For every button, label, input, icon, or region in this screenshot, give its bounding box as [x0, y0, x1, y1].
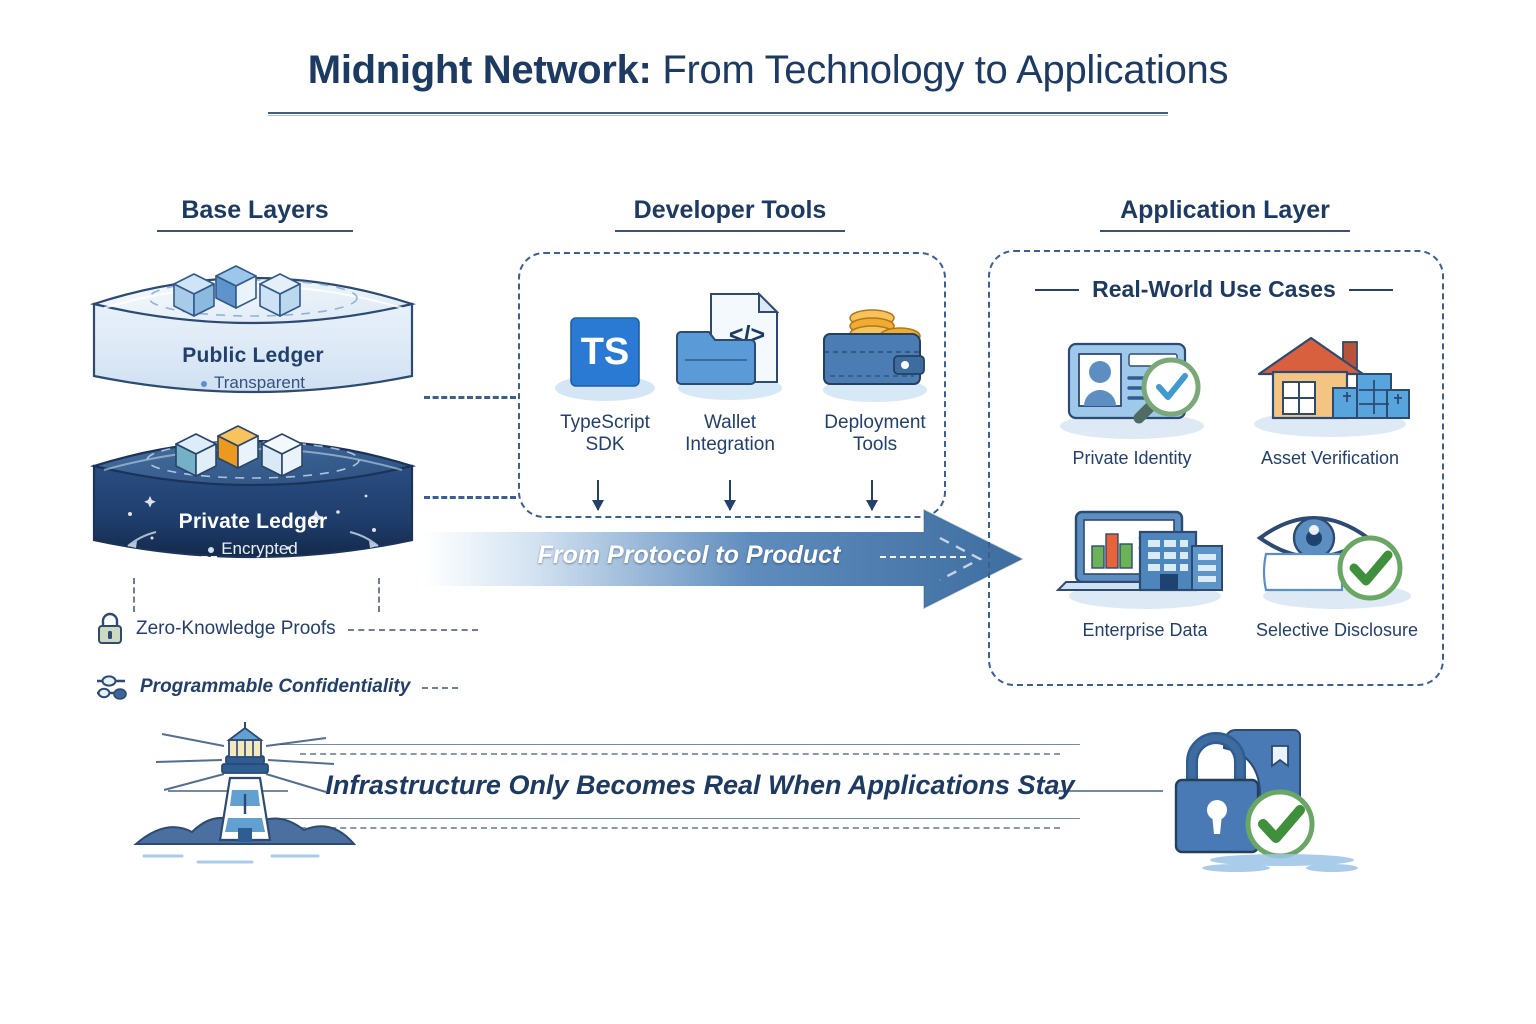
title-underline — [268, 112, 1168, 114]
id-card-magnifier-icon — [1037, 330, 1227, 442]
use-case-private-identity[interactable]: Private Identity — [1037, 330, 1227, 469]
page-title: Midnight Network: From Technology to App… — [0, 48, 1536, 93]
feature-zk-dash — [348, 629, 478, 631]
infographic-canvas: Midnight Network: From Technology to App… — [0, 0, 1536, 1024]
sliders-icon — [95, 672, 129, 702]
connector-private-to-dev — [424, 496, 516, 499]
public-ledger-shape — [88, 258, 418, 408]
column-header-application-label: Application Layer — [1060, 196, 1390, 225]
eye-check-icon — [1242, 502, 1432, 614]
use-case-private-identity-label: Private Identity — [1037, 448, 1227, 469]
feature-pc-label: Programmable Confidentiality — [140, 676, 410, 698]
column-header-base-layers: Base Layers — [95, 196, 415, 232]
arrow-label: From Protocol to Product — [424, 541, 954, 570]
arrow-dash-left — [145, 556, 217, 558]
padlock-icon — [95, 612, 125, 646]
use-cases-rule-right — [1349, 289, 1393, 291]
laptop-chart-building-icon — [1050, 502, 1240, 614]
dev-tool-wallet-integration[interactable]: </> Wallet Integration — [655, 288, 805, 456]
connector-private-down-left — [133, 578, 135, 612]
house-buildings-icon — [1235, 330, 1425, 442]
use-case-asset-verification[interactable]: Asset Verification — [1235, 330, 1425, 469]
private-ledger-shape — [88, 418, 418, 578]
feature-programmable-confidentiality: Programmable Confidentiality — [95, 672, 458, 702]
protocol-to-product-arrow: From Protocol to Product — [424, 504, 1024, 614]
connector-private-down-right — [378, 578, 380, 612]
use-cases-rule-left — [1035, 289, 1079, 291]
dev-tool-deployment-tools[interactable]: Deployment Tools — [800, 296, 950, 456]
lighthouse-icon — [126, 722, 426, 872]
wallet-coins-icon — [800, 296, 950, 404]
column-header-developer-label: Developer Tools — [565, 196, 895, 225]
padlock-check-icon — [1164, 722, 1424, 872]
arrow-dash-right — [880, 556, 966, 558]
column-header-developer-rule — [615, 230, 845, 232]
column-header-base-label: Base Layers — [95, 196, 415, 225]
code-document-folder-icon: </> — [655, 288, 805, 404]
typescript-badge-text: TS — [581, 331, 630, 373]
use-case-enterprise-data-label: Enterprise Data — [1050, 620, 1240, 641]
use-case-selective-disclosure[interactable]: Selective Disclosure — [1242, 502, 1432, 641]
use-case-asset-verification-label: Asset Verification — [1235, 448, 1425, 469]
feature-pc-dash — [422, 687, 458, 689]
security-illustration — [1164, 722, 1424, 872]
column-header-developer-tools: Developer Tools — [565, 196, 895, 232]
use-cases-header: Real-World Use Cases — [988, 276, 1440, 303]
feature-zk-label: Zero-Knowledge Proofs — [136, 618, 336, 640]
dev-tool-deployment-label: Deployment Tools — [800, 412, 950, 456]
use-case-selective-disclosure-label: Selective Disclosure — [1242, 620, 1432, 641]
title-strong: Midnight Network: — [308, 48, 652, 92]
public-ledger-disc: Public Ledger Transparent — [88, 258, 418, 408]
column-header-application-layer: Application Layer — [1060, 196, 1390, 232]
title-light: From Technology to Applications — [652, 48, 1229, 92]
private-ledger-disc: Private Ledger Encrypted — [88, 418, 418, 578]
lighthouse-illustration — [126, 722, 426, 872]
use-cases-title: Real-World Use Cases — [1092, 276, 1336, 303]
connector-public-to-dev — [424, 396, 516, 399]
dev-tool-wallet-label: Wallet Integration — [655, 412, 805, 456]
use-case-enterprise-data[interactable]: Enterprise Data — [1050, 502, 1240, 641]
feature-zero-knowledge-proofs: Zero-Knowledge Proofs — [95, 612, 478, 646]
column-header-application-rule — [1100, 230, 1350, 232]
column-header-base-rule — [157, 230, 353, 232]
